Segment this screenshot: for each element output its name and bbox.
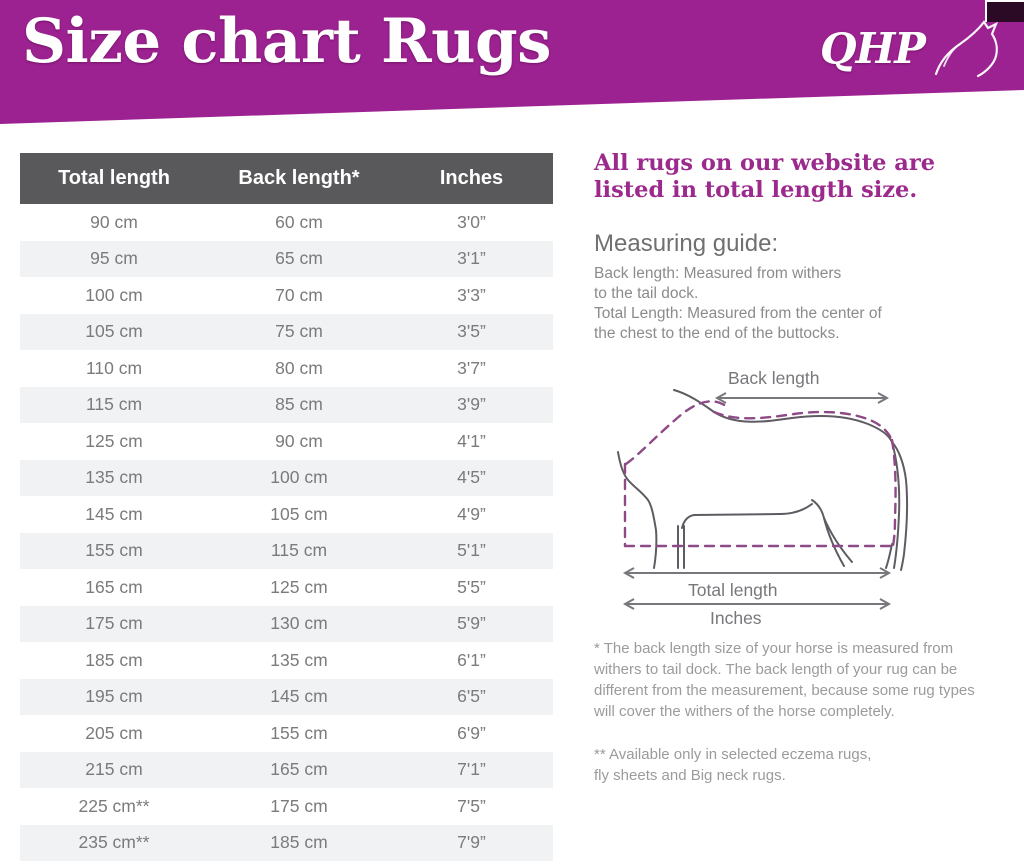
table-row: 235 cm**185 cm7'9” xyxy=(20,825,553,862)
measuring-guide-body: Back length: Measured from withers to th… xyxy=(594,264,1012,344)
cell-inches: 7'9” xyxy=(390,825,553,862)
cell-inches: 5'9” xyxy=(390,606,553,643)
cell-inches: 3'3” xyxy=(390,277,553,314)
cell-inches: 3'0” xyxy=(390,204,553,241)
corner-overlay-artifact xyxy=(985,0,1024,22)
cell-inches: 5'5” xyxy=(390,569,553,606)
table-row: 105 cm75 cm3'5” xyxy=(20,314,553,351)
cell-total-length: 195 cm xyxy=(20,679,208,716)
cell-total-length: 115 cm xyxy=(20,387,208,424)
horse-measurement-diagram: Back length Total length Inches xyxy=(596,368,1008,636)
footnotes: * The back length size of your horse is … xyxy=(594,638,994,786)
table-row: 165 cm125 cm5'5” xyxy=(20,569,553,606)
diagram-label-total-length: Total length xyxy=(688,580,778,601)
table-row: 215 cm165 cm7'1” xyxy=(20,752,553,789)
cell-inches: 4'1” xyxy=(390,423,553,460)
table-row: 175 cm130 cm5'9” xyxy=(20,606,553,643)
cell-total-length: 125 cm xyxy=(20,423,208,460)
header-banner: Size chart Rugs QHP xyxy=(0,0,1024,130)
qhp-logo-text: QHP xyxy=(820,24,925,73)
cell-back-length: 65 cm xyxy=(208,241,390,278)
cell-back-length: 130 cm xyxy=(208,606,390,643)
table-row: 155 cm115 cm5'1” xyxy=(20,533,553,570)
cell-inches: 5'1” xyxy=(390,533,553,570)
cell-back-length: 85 cm xyxy=(208,387,390,424)
table-row: 185 cm135 cm6'1” xyxy=(20,642,553,679)
cell-inches: 6'9” xyxy=(390,715,553,752)
cell-back-length: 175 cm xyxy=(208,788,390,825)
table-row: 145 cm105 cm4'9” xyxy=(20,496,553,533)
cell-inches: 7'1” xyxy=(390,752,553,789)
table-row: 135 cm100 cm4'5” xyxy=(20,460,553,497)
cell-inches: 3'1” xyxy=(390,241,553,278)
table-row: 95 cm65 cm3'1” xyxy=(20,241,553,278)
cell-total-length: 225 cm** xyxy=(20,788,208,825)
cell-total-length: 110 cm xyxy=(20,350,208,387)
table-row: 205 cm155 cm6'9” xyxy=(20,715,553,752)
info-panel: All rugs on our website are listed in to… xyxy=(594,150,1012,344)
cell-back-length: 60 cm xyxy=(208,204,390,241)
cell-inches: 6'1” xyxy=(390,642,553,679)
back-length-arrow xyxy=(717,393,887,403)
table-row: 195 cm145 cm6'5” xyxy=(20,679,553,716)
cell-back-length: 75 cm xyxy=(208,314,390,351)
cell-back-length: 145 cm xyxy=(208,679,390,716)
cell-back-length: 125 cm xyxy=(208,569,390,606)
table-row: 100 cm70 cm3'3” xyxy=(20,277,553,314)
table-row: 115 cm85 cm3'9” xyxy=(20,387,553,424)
diagram-label-inches: Inches xyxy=(710,608,762,629)
cell-back-length: 135 cm xyxy=(208,642,390,679)
qhp-logo: QHP xyxy=(816,18,1006,80)
cell-total-length: 215 cm xyxy=(20,752,208,789)
cell-inches: 4'9” xyxy=(390,496,553,533)
cell-total-length: 175 cm xyxy=(20,606,208,643)
cell-back-length: 185 cm xyxy=(208,825,390,862)
measuring-guide-title: Measuring guide: xyxy=(594,230,1012,258)
cell-back-length: 115 cm xyxy=(208,533,390,570)
footnote-back-length: * The back length size of your horse is … xyxy=(594,638,994,722)
page-title: Size chart Rugs xyxy=(22,6,551,77)
table-row: 125 cm90 cm4'1” xyxy=(20,423,553,460)
column-header-inches: Inches xyxy=(390,153,553,204)
footnote-availability: ** Available only in selected eczema rug… xyxy=(594,744,994,786)
horse-diagram-svg xyxy=(596,368,1008,636)
cell-total-length: 185 cm xyxy=(20,642,208,679)
cell-back-length: 165 cm xyxy=(208,752,390,789)
table-row: 110 cm80 cm3'7” xyxy=(20,350,553,387)
intro-heading: All rugs on our website are listed in to… xyxy=(594,150,954,204)
cell-inches: 3'5” xyxy=(390,314,553,351)
cell-total-length: 165 cm xyxy=(20,569,208,606)
cell-total-length: 100 cm xyxy=(20,277,208,314)
size-chart-table: Total length Back length* Inches 90 cm60… xyxy=(20,153,553,861)
cell-back-length: 155 cm xyxy=(208,715,390,752)
cell-back-length: 70 cm xyxy=(208,277,390,314)
table-row: 90 cm60 cm3'0” xyxy=(20,204,553,241)
cell-inches: 3'7” xyxy=(390,350,553,387)
column-header-back-length: Back length* xyxy=(208,153,390,204)
table-header-row: Total length Back length* Inches xyxy=(20,153,553,204)
cell-total-length: 235 cm** xyxy=(20,825,208,862)
cell-total-length: 90 cm xyxy=(20,204,208,241)
column-header-total-length: Total length xyxy=(20,153,208,204)
cell-total-length: 155 cm xyxy=(20,533,208,570)
cell-inches: 4'5” xyxy=(390,460,553,497)
total-length-arrow xyxy=(625,568,889,578)
cell-inches: 6'5” xyxy=(390,679,553,716)
cell-back-length: 90 cm xyxy=(208,423,390,460)
cell-back-length: 100 cm xyxy=(208,460,390,497)
horse-head-icon xyxy=(926,18,1006,80)
cell-back-length: 80 cm xyxy=(208,350,390,387)
cell-total-length: 205 cm xyxy=(20,715,208,752)
table-row: 225 cm**175 cm7'5” xyxy=(20,788,553,825)
cell-total-length: 145 cm xyxy=(20,496,208,533)
cell-back-length: 105 cm xyxy=(208,496,390,533)
rug-outline-dashed-path xyxy=(625,401,896,546)
cell-total-length: 95 cm xyxy=(20,241,208,278)
cell-inches: 3'9” xyxy=(390,387,553,424)
table-body: 90 cm60 cm3'0”95 cm65 cm3'1”100 cm70 cm3… xyxy=(20,204,553,861)
diagram-label-back-length: Back length xyxy=(728,368,819,389)
cell-total-length: 135 cm xyxy=(20,460,208,497)
cell-inches: 7'5” xyxy=(390,788,553,825)
cell-total-length: 105 cm xyxy=(20,314,208,351)
